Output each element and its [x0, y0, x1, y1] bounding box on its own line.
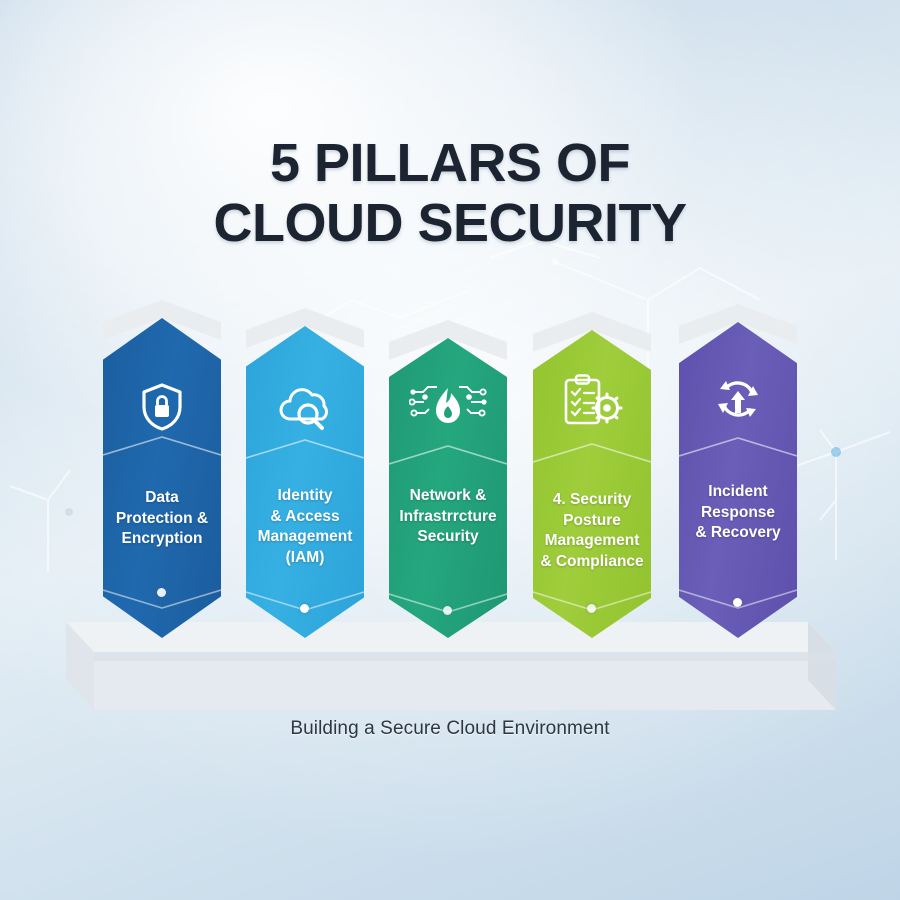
- pillar-5-label-line-1: Incident: [708, 483, 767, 500]
- pillar-4-label-line-2: Posture: [563, 512, 621, 529]
- pillars-diagram: Data Protection & Encryption: [0, 0, 900, 900]
- shield-lock-icon: [139, 382, 185, 432]
- clipboard-checklist-gear-icon: [561, 374, 623, 428]
- pillar-4-label-line-1: 4. Security: [553, 491, 631, 508]
- pillar-3-label-line-3: Security: [417, 528, 478, 545]
- cloud-search-icon: [277, 386, 333, 432]
- pillar-5-label-line-2: Response: [701, 504, 775, 521]
- firewall-flame-network-icon: [409, 382, 487, 430]
- pillar-1-label-line-1: Data: [145, 489, 179, 506]
- pillar-3-node-dot: [443, 606, 452, 615]
- pillar-5-divider: [679, 434, 797, 460]
- pillar-1-icon-wrap: [103, 382, 221, 437]
- pillar-1-node-dot: [157, 588, 166, 597]
- refresh-recovery-arrows-icon: [712, 376, 764, 426]
- pillar-4-divider: [533, 440, 651, 466]
- pillar-2-label-line-2: & Access: [270, 508, 339, 525]
- pillar-5-icon-wrap: [679, 376, 797, 431]
- pillar-5-body: [679, 322, 797, 638]
- pillar-4-label: 4. Security Posture Management & Complia…: [525, 490, 659, 572]
- pillar-1-label-line-2: Protection &: [116, 510, 208, 527]
- pillar-3-label-line-1: Network &: [410, 487, 487, 504]
- pillar-3-label-line-2: Infrastrrcture: [399, 508, 496, 525]
- pillar-2-node-dot: [300, 604, 309, 613]
- pillar-2-divider: [246, 436, 364, 462]
- pillar-4-icon-wrap: [533, 374, 651, 433]
- footer-caption: Building a Secure Cloud Environment: [0, 718, 900, 740]
- pillar-3-divider: [389, 442, 507, 468]
- pillar-3-icon-wrap: [389, 382, 507, 435]
- pillar-2-icon-wrap: [246, 386, 364, 437]
- pillar-4-label-line-4: & Compliance: [540, 553, 643, 570]
- pillar-4-label-line-3: Management: [545, 532, 640, 549]
- pillar-5-label: Incident Response & Recovery: [671, 482, 805, 544]
- pillar-1-label: Data Protection & Encryption: [95, 488, 229, 550]
- pillar-5-node-dot: [733, 598, 742, 607]
- pillar-2-body: [246, 326, 364, 638]
- pillar-2-label: Identity & Access Management (IAM): [238, 486, 372, 568]
- pillar-5-label-line-3: & Recovery: [695, 524, 780, 541]
- pillar-3-label: Network & Infrastrrcture Security: [381, 486, 515, 548]
- pillar-2-label-line-3: Management: [258, 528, 353, 545]
- pillar-2-label-line-1: Identity: [277, 487, 332, 504]
- pillar-4-node-dot: [587, 604, 596, 613]
- pillar-2-label-line-4: (IAM): [286, 549, 325, 566]
- pillar-1-label-line-3: Encryption: [122, 530, 203, 547]
